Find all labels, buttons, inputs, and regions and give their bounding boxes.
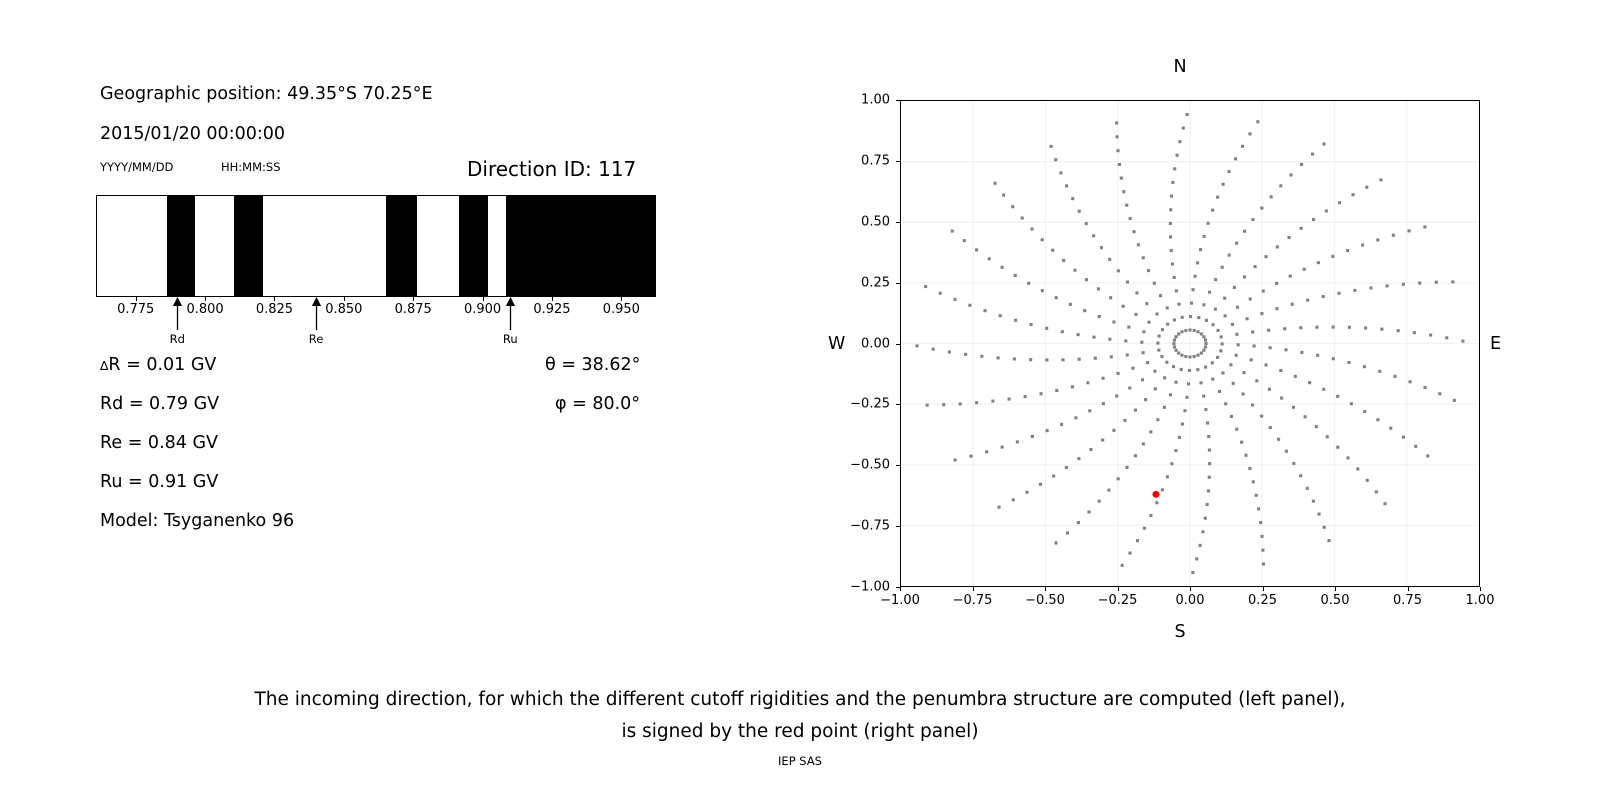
- direction-point: [1014, 319, 1017, 322]
- scatter-y-tick-label: 0.50: [834, 214, 890, 229]
- direction-point: [964, 353, 967, 356]
- param-rd: Rd = 0.79 GV: [100, 394, 219, 414]
- direction-point: [1236, 306, 1239, 309]
- direction-point: [1126, 353, 1129, 356]
- direction-point: [1202, 335, 1205, 338]
- direction-point: [1230, 415, 1233, 418]
- penumbra-tick-label: 0.825: [256, 302, 293, 317]
- direction-point: [1423, 386, 1426, 389]
- direction-point: [1316, 354, 1319, 357]
- direction-point: [1153, 282, 1156, 285]
- direction-point: [1172, 342, 1175, 345]
- direction-point: [924, 285, 927, 288]
- direction-point: [1125, 466, 1128, 469]
- direction-point: [1097, 287, 1100, 290]
- direction-point: [1013, 357, 1016, 360]
- direction-point: [1217, 329, 1220, 332]
- param-phi: φ = 80.0°: [555, 394, 640, 414]
- penumbra-tick-label: 0.950: [603, 302, 640, 317]
- direction-point: [998, 506, 1001, 509]
- direction-point: [1016, 440, 1019, 443]
- scatter-y-tick-mark: [896, 283, 900, 284]
- direction-point: [1108, 258, 1111, 261]
- scatter-x-tick-label: −0.50: [1025, 593, 1065, 608]
- direction-point: [1233, 286, 1236, 289]
- direction-point: [1289, 275, 1292, 278]
- date-format-hint: YYYY/MM/DD: [100, 160, 173, 174]
- direction-point: [1315, 425, 1318, 428]
- direction-point: [1229, 363, 1232, 366]
- direction-point: [1268, 388, 1271, 391]
- direction-point: [1311, 153, 1314, 156]
- direction-point: [1386, 284, 1389, 287]
- direction-point: [1135, 291, 1138, 294]
- up-arrow-icon: [310, 297, 323, 331]
- direction-point: [1146, 361, 1149, 364]
- direction-point: [1407, 229, 1410, 232]
- direction-point: [1193, 275, 1196, 278]
- penumbra-marker-ru: Ru: [493, 297, 527, 346]
- scatter-plot-area: [900, 100, 1480, 587]
- direction-point: [1363, 365, 1366, 368]
- direction-point: [1149, 430, 1152, 433]
- direction-point: [1054, 541, 1057, 544]
- direction-point: [1306, 299, 1309, 302]
- direction-point: [1235, 242, 1238, 245]
- direction-point: [1285, 450, 1288, 453]
- direction-point: [1142, 351, 1145, 354]
- direction-point: [1149, 514, 1152, 517]
- figure-caption: The incoming direction, for which the di…: [0, 684, 1600, 748]
- param-delta-r: ∆R = 0.01 GV: [100, 355, 216, 375]
- direction-point: [1208, 462, 1211, 465]
- direction-point: [1212, 323, 1215, 326]
- direction-point: [1161, 328, 1164, 331]
- direction-point: [1262, 563, 1265, 566]
- direction-point: [1115, 121, 1118, 124]
- direction-point: [1246, 317, 1249, 320]
- direction-point: [1199, 248, 1202, 251]
- penumbra-marker-rd: Rd: [160, 297, 194, 346]
- direction-point: [1315, 326, 1318, 329]
- direction-point: [1253, 344, 1256, 347]
- direction-point: [1445, 336, 1448, 339]
- direction-point: [951, 230, 954, 233]
- direction-point: [1438, 392, 1441, 395]
- direction-point: [1166, 323, 1169, 326]
- direction-point: [1242, 392, 1245, 395]
- direction-point: [1052, 475, 1055, 478]
- direction-point: [1184, 355, 1187, 358]
- direction-point: [1077, 521, 1080, 524]
- direction-point: [1155, 312, 1158, 315]
- penumbra-tick-label: 0.925: [533, 302, 570, 317]
- direction-point: [1122, 190, 1125, 193]
- direction-point: [1055, 389, 1058, 392]
- direction-point: [1041, 289, 1044, 292]
- direction-point: [1170, 195, 1173, 198]
- direction-point: [1051, 249, 1054, 252]
- scatter-x-tick-mark: [1480, 587, 1481, 591]
- direction-point: [1393, 375, 1396, 378]
- direction-point: [1173, 167, 1176, 170]
- direction-point: [1366, 479, 1369, 482]
- direction-point: [1219, 349, 1222, 352]
- direction-map-panel: −1.00−0.75−0.50−0.250.000.250.500.751.00…: [780, 0, 1600, 660]
- compass-south-label: S: [1174, 622, 1185, 642]
- direction-point: [1265, 363, 1268, 366]
- direction-point: [1252, 480, 1255, 483]
- direction-point: [1346, 456, 1349, 459]
- direction-point: [1277, 438, 1280, 441]
- direction-point: [1317, 513, 1320, 516]
- direction-point: [1326, 435, 1329, 438]
- direction-point: [1350, 402, 1353, 405]
- direction-point: [1375, 490, 1378, 493]
- direction-point: [1211, 361, 1214, 364]
- direction-point: [1205, 319, 1208, 322]
- direction-point: [1260, 312, 1263, 315]
- direction-point: [1197, 316, 1200, 319]
- penumbra-tick-mark: [274, 297, 275, 301]
- direction-point: [1317, 261, 1320, 264]
- direction-point: [1086, 381, 1089, 384]
- direction-point: [1322, 142, 1325, 145]
- direction-point: [1222, 183, 1225, 186]
- direction-point: [1155, 501, 1158, 504]
- direction-point: [1142, 442, 1145, 445]
- penumbra-forbidden-band: [167, 196, 195, 296]
- direction-point: [1214, 308, 1217, 311]
- direction-point: [1001, 266, 1004, 269]
- direction-point: [1251, 330, 1254, 333]
- direction-point: [1074, 416, 1077, 419]
- direction-point: [997, 356, 1000, 359]
- direction-point: [975, 248, 978, 251]
- direction-point: [1240, 441, 1243, 444]
- direction-point: [1206, 421, 1209, 424]
- direction-point: [1254, 265, 1257, 268]
- direction-point: [1140, 341, 1143, 344]
- direction-point: [1069, 303, 1072, 306]
- direction-point: [954, 459, 957, 462]
- direction-point: [1171, 262, 1174, 265]
- direction-point: [1208, 291, 1211, 294]
- direction-point: [1204, 408, 1207, 411]
- direction-point: [1267, 329, 1270, 332]
- direction-point: [1144, 398, 1147, 401]
- direction-point: [1134, 313, 1137, 316]
- direction-point: [1202, 395, 1205, 398]
- direction-point: [1188, 328, 1191, 331]
- left-panel: Geographic position: 49.35°S 70.25°E 201…: [0, 0, 760, 660]
- direction-point: [1054, 158, 1057, 161]
- direction-point: [1117, 477, 1120, 480]
- penumbra-forbidden-band: [234, 196, 263, 296]
- direction-point: [926, 404, 929, 407]
- direction-point: [980, 355, 983, 358]
- direction-point: [1066, 531, 1069, 534]
- direction-point: [1418, 282, 1421, 285]
- direction-point: [1284, 348, 1287, 351]
- direction-point: [1234, 157, 1237, 160]
- direction-point: [1244, 454, 1247, 457]
- scatter-x-tick-label: −0.75: [953, 593, 993, 608]
- direction-point: [1059, 171, 1062, 174]
- param-model: Model: Tsyganenko 96: [100, 511, 294, 531]
- direction-point: [1221, 371, 1224, 374]
- direction-point: [1118, 163, 1121, 166]
- direction-point: [999, 314, 1002, 317]
- direction-point: [1409, 380, 1412, 383]
- direction-point: [1202, 349, 1205, 352]
- scatter-y-tick-label: −0.50: [834, 458, 890, 473]
- direction-point: [1231, 323, 1234, 326]
- direction-point: [1112, 429, 1115, 432]
- direction-point: [1242, 371, 1245, 374]
- direction-point: [1322, 295, 1325, 298]
- direction-point: [1183, 409, 1186, 412]
- direction-point: [1136, 539, 1139, 542]
- direction-point: [1087, 510, 1090, 513]
- direction-point: [1073, 269, 1076, 272]
- direction-point: [1332, 326, 1335, 329]
- direction-point: [1089, 448, 1092, 451]
- param-re: Re = 0.84 GV: [100, 433, 218, 453]
- datetime-label: 2015/01/20 00:00:00: [100, 124, 285, 144]
- scatter-y-tick-label: −0.25: [834, 397, 890, 412]
- direction-point: [1173, 345, 1176, 348]
- direction-point: [1173, 318, 1176, 321]
- scatter-x-tick-mark: [1263, 587, 1264, 591]
- direction-point: [1169, 208, 1172, 211]
- direction-point: [1046, 429, 1049, 432]
- penumbra-tick-mark: [205, 297, 206, 301]
- direction-point: [1364, 326, 1367, 329]
- direction-point: [1392, 234, 1395, 237]
- direction-point: [1257, 507, 1260, 510]
- penumbra-tick-mark: [483, 297, 484, 301]
- direction-point: [916, 344, 919, 347]
- direction-point: [1243, 275, 1246, 278]
- direction-point: [1283, 327, 1286, 330]
- direction-point: [1270, 195, 1273, 198]
- scatter-x-tick-label: −1.00: [880, 593, 920, 608]
- direction-point: [959, 402, 962, 405]
- direction-point: [1180, 368, 1183, 371]
- scatter-y-tick-label: 0.75: [834, 153, 890, 168]
- direction-point: [1241, 145, 1244, 148]
- scatter-x-tick-label: 0.00: [1176, 593, 1205, 608]
- scatter-x-tick-label: 0.75: [1393, 593, 1422, 608]
- direction-point: [1161, 488, 1164, 491]
- direction-point: [1221, 342, 1224, 345]
- direction-point: [1177, 351, 1180, 354]
- direction-point: [1224, 314, 1227, 317]
- penumbra-tick-mark: [136, 297, 137, 301]
- direction-point: [1269, 346, 1272, 349]
- direction-point: [963, 239, 966, 242]
- direction-point: [1175, 335, 1178, 338]
- scatter-x-tick-mark: [1190, 587, 1191, 591]
- direction-point: [1312, 218, 1315, 221]
- direction-point: [1193, 355, 1196, 358]
- direction-point: [1173, 338, 1176, 341]
- scatter-y-tick-label: −0.75: [834, 519, 890, 534]
- direction-point: [1129, 217, 1132, 220]
- direction-point: [1380, 328, 1383, 331]
- direction-point: [1276, 245, 1279, 248]
- direction-point: [1312, 500, 1315, 503]
- direction-point: [1275, 282, 1278, 285]
- direction-point: [1008, 398, 1011, 401]
- direction-point: [1121, 564, 1124, 567]
- direction-point: [975, 401, 978, 404]
- direction-point: [1181, 316, 1184, 319]
- scatter-y-tick-mark: [896, 404, 900, 405]
- penumbra-forbidden-band: [506, 196, 656, 296]
- direction-point: [1383, 502, 1386, 505]
- direction-point: [1235, 428, 1238, 431]
- scatter-x-tick-mark: [1408, 587, 1409, 591]
- direction-point: [1306, 487, 1309, 490]
- direction-point: [1169, 393, 1172, 396]
- direction-point: [1220, 335, 1223, 338]
- direction-point: [1117, 269, 1120, 272]
- direction-point: [1203, 235, 1206, 238]
- direction-point: [1260, 207, 1263, 210]
- direction-point: [1128, 387, 1131, 390]
- direction-id-label: Direction ID: 117: [467, 157, 636, 181]
- direction-point: [1300, 227, 1303, 230]
- direction-point: [1255, 379, 1258, 382]
- direction-point: [1187, 382, 1190, 385]
- direction-point: [1115, 394, 1118, 397]
- direction-point: [1300, 351, 1303, 354]
- direction-point: [1196, 261, 1199, 264]
- direction-point: [1232, 382, 1235, 385]
- direction-point: [1178, 436, 1181, 439]
- direction-point: [1109, 296, 1112, 299]
- penumbra-chart: [96, 195, 656, 297]
- direction-point: [1120, 177, 1123, 180]
- direction-point: [1248, 467, 1251, 470]
- compass-east-label: E: [1490, 334, 1501, 354]
- direction-point: [1029, 358, 1032, 361]
- direction-point: [1346, 249, 1349, 252]
- direction-point: [1289, 173, 1292, 176]
- direction-point: [1184, 329, 1187, 332]
- direction-point: [948, 350, 951, 353]
- direction-point: [1122, 305, 1125, 308]
- direction-point: [1094, 357, 1097, 360]
- direction-point: [1178, 140, 1181, 143]
- direction-point: [932, 348, 935, 351]
- direction-point: [1040, 392, 1043, 395]
- direction-point: [1188, 369, 1191, 372]
- direction-point: [1195, 557, 1198, 560]
- direction-point: [1123, 419, 1126, 422]
- caption-line-2: is signed by the red point (right panel): [0, 716, 1600, 748]
- direction-point: [1185, 396, 1188, 399]
- direction-point: [1260, 415, 1263, 418]
- direction-point: [1204, 345, 1207, 348]
- direction-point: [1402, 283, 1405, 286]
- direction-point: [1353, 289, 1356, 292]
- direction-point: [1191, 288, 1194, 291]
- direction-point: [1201, 530, 1204, 533]
- scatter-x-tick-mark: [900, 587, 901, 591]
- direction-point: [1279, 369, 1282, 372]
- direction-point: [1235, 333, 1238, 336]
- direction-point: [1453, 399, 1456, 402]
- penumbra-forbidden-band: [386, 196, 417, 296]
- direction-point: [1045, 358, 1048, 361]
- direction-point: [1012, 498, 1015, 501]
- direction-point: [1027, 282, 1030, 285]
- direction-point: [1196, 330, 1199, 333]
- direction-point: [1071, 197, 1074, 200]
- direction-point: [1060, 423, 1063, 426]
- direction-point: [1045, 327, 1048, 330]
- direction-point: [1280, 397, 1283, 400]
- direction-point: [1196, 368, 1199, 371]
- direction-point: [1154, 387, 1157, 390]
- direction-point: [1141, 378, 1144, 381]
- direction-point: [1085, 222, 1088, 225]
- direction-point: [1292, 406, 1295, 409]
- direction-point: [1218, 390, 1221, 393]
- direction-point: [1435, 281, 1438, 284]
- direction-point: [1200, 332, 1203, 335]
- scatter-y-tick-mark: [896, 344, 900, 345]
- scatter-x-tick-label: 1.00: [1466, 593, 1495, 608]
- direction-point: [1193, 329, 1196, 332]
- direction-point: [1001, 445, 1004, 448]
- direction-point: [1348, 326, 1351, 329]
- direction-point: [1261, 549, 1264, 552]
- direction-point: [1207, 435, 1210, 438]
- up-arrow-icon: [171, 297, 184, 331]
- penumbra-marker-label: Rd: [160, 332, 194, 346]
- direction-point: [1378, 370, 1381, 373]
- direction-point: [1158, 335, 1161, 338]
- penumbra-marker-label: Ru: [493, 332, 527, 346]
- direction-point: [1200, 351, 1203, 354]
- scatter-x-tick-mark: [973, 587, 974, 591]
- direction-point: [1338, 201, 1341, 204]
- direction-point: [1078, 210, 1081, 213]
- direction-point: [1148, 321, 1151, 324]
- direction-point: [1269, 426, 1272, 429]
- direction-point: [1176, 154, 1179, 157]
- direction-point: [968, 304, 971, 307]
- direction-point: [1134, 454, 1137, 457]
- direction-point: [1413, 331, 1416, 334]
- direction-point: [1102, 402, 1105, 405]
- direction-point: [1207, 222, 1210, 225]
- direction-point: [1024, 395, 1027, 398]
- direction-point: [1127, 326, 1130, 329]
- direction-point: [1361, 244, 1364, 247]
- direction-point: [1351, 193, 1354, 196]
- direction-point: [1011, 205, 1014, 208]
- compass-west-label: W: [828, 334, 845, 354]
- geographic-position-label: Geographic position: 49.35°S 70.25°E: [100, 84, 433, 104]
- direction-point: [1223, 297, 1226, 300]
- direction-point: [1175, 289, 1178, 292]
- scatter-x-tick-label: −0.25: [1098, 593, 1138, 608]
